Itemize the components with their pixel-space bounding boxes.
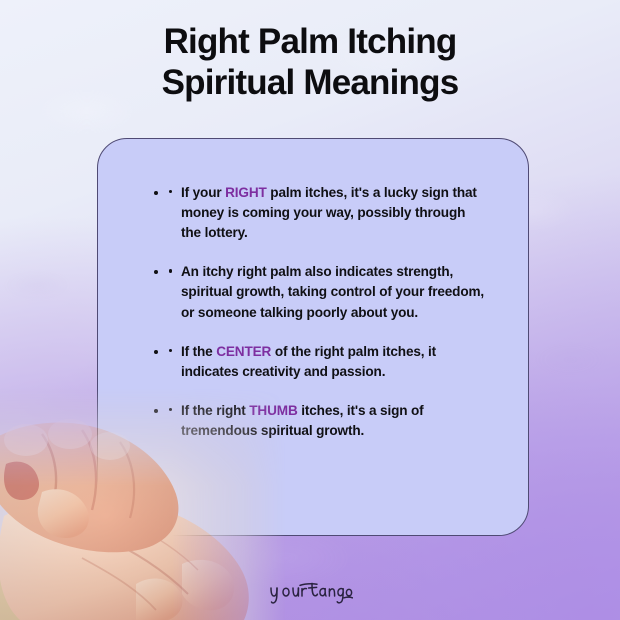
bullet-dot-icon <box>169 269 172 272</box>
page-title-line-2: Spiritual Meanings <box>0 63 620 104</box>
bullet-center-creativity: If the CENTER of the right palm itches, … <box>169 342 487 382</box>
yourtango-logo <box>267 580 353 606</box>
hands-photo <box>0 388 286 620</box>
bullet-dot-icon <box>169 349 172 352</box>
bullet-text: If your <box>181 185 225 200</box>
bullet-dot-icon <box>169 190 172 193</box>
page-title-line-1: Right Palm Itching <box>0 22 620 63</box>
bullet-text: An itchy right palm also indicates stren… <box>181 264 484 319</box>
bullet-accent-text: RIGHT <box>225 185 267 200</box>
bullet-text: If the <box>181 344 216 359</box>
bullet-right-palm-lucky: If your RIGHT palm itches, it's a lucky … <box>169 183 487 243</box>
bullet-accent-text: CENTER <box>216 344 271 359</box>
infographic-card: Right Palm Itching Spiritual Meanings If… <box>0 0 620 620</box>
bullet-itchy-right-palm-strength: An itchy right palm also indicates stren… <box>169 262 487 322</box>
page-title: Right Palm Itching Spiritual Meanings <box>0 22 620 103</box>
